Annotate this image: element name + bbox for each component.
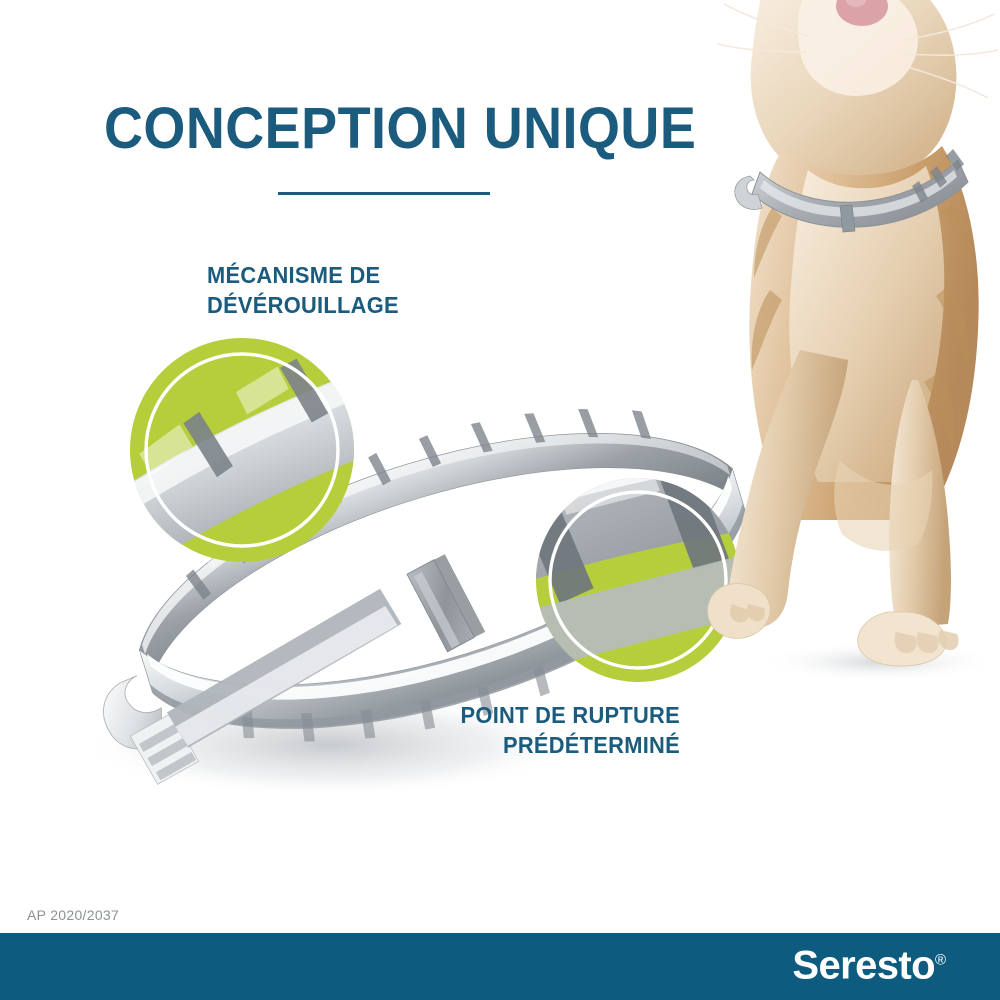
magnifier-ring-right	[550, 492, 726, 668]
cat-paw-shadow	[760, 642, 1000, 682]
title-divider	[278, 192, 490, 195]
cat-chest	[749, 146, 978, 520]
cat-vector	[690, 0, 1000, 700]
callout-label-unlock-mechanism: MÉCANISME DE DÉVÉROUILLAGE	[207, 260, 399, 320]
cat-nose-shine	[846, 0, 866, 7]
cat-whiskers	[718, 4, 998, 98]
magnifier-unlock-mechanism	[0, 111, 1000, 1000]
cat-raised-leg	[728, 350, 848, 628]
cat-collar-keeper	[840, 205, 855, 232]
poster-canvas: CONCEPTION UNIQUE MÉCANISME DE DÉVÉROUIL…	[0, 0, 1000, 1000]
magnifier-breaking-point	[0, 278, 1000, 1000]
footer-bar: Seresto®	[0, 933, 1000, 1000]
callout-breakpoint-line1: POINT DE RUPTURE	[461, 700, 680, 730]
cat-illustration	[690, 0, 1000, 700]
cat-chest-blaze	[789, 166, 944, 482]
cat-belly-shade	[834, 460, 932, 551]
collar-segments-back	[167, 373, 658, 603]
registered-trademark-icon: ®	[935, 951, 946, 968]
callout-unlock-line2: DÉVÉROUILLAGE	[207, 290, 399, 320]
cat-standing-paw-toes	[894, 630, 958, 653]
cat-muzzle	[798, 0, 918, 96]
brand-name: Seresto	[792, 943, 935, 987]
cat-standing-leg	[889, 380, 951, 628]
document-code: AP 2020/2037	[27, 907, 119, 923]
callout-unlock-line1: MÉCANISME DE	[207, 260, 399, 290]
cat-nose	[836, 0, 888, 26]
page-title: CONCEPTION UNIQUE	[104, 98, 696, 160]
cat-raised-paw	[708, 584, 770, 639]
callout-label-breaking-point: POINT DE RUPTURE PRÉDÉTERMINÉ	[461, 700, 680, 760]
collar-buckle	[91, 586, 425, 794]
callout-breakpoint-line2: PRÉDÉTERMINÉ	[461, 730, 680, 760]
cat-head	[751, 0, 957, 185]
cat-raised-paw-toes	[730, 604, 765, 622]
collar-keeper-loop	[405, 550, 488, 657]
cat-collar-segments	[912, 149, 964, 203]
cat-tabby-stripes	[752, 204, 972, 454]
cat-standing-paw	[858, 612, 946, 666]
cat-collar	[735, 149, 968, 232]
cat-collar-buckle	[735, 176, 762, 210]
collar-back-arc	[104, 353, 743, 684]
magnifier-ring-left	[146, 354, 338, 546]
brand-logo: Seresto®	[792, 943, 946, 988]
collar-facets-back	[190, 391, 591, 570]
